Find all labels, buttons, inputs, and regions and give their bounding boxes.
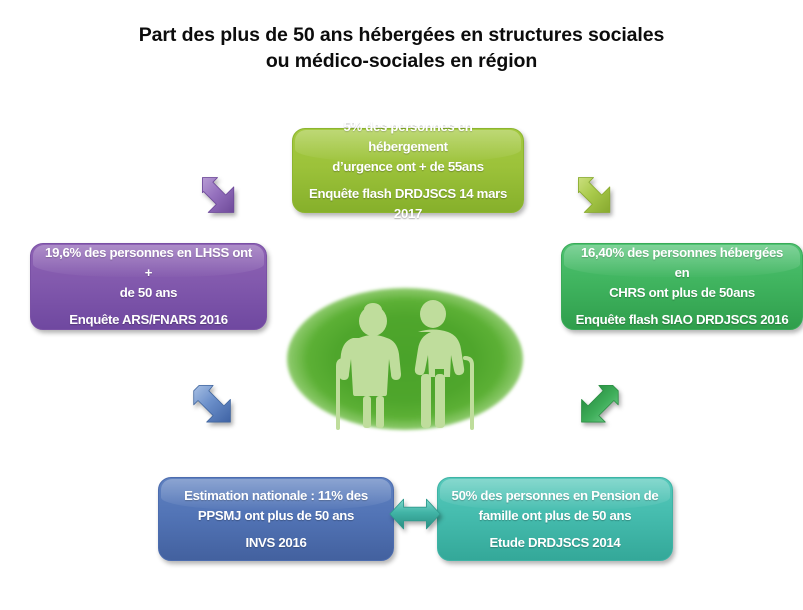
title-line-1: Part des plus de 50 ans hébergées en str… [100,22,703,48]
stat-text-line-2: de 50 ans [41,283,256,303]
stat-box-chrs[interactable]: 16,40% des personnes hébergées en CHRS o… [561,243,803,330]
stat-text-line-1: 16,40% des personnes hébergées en [572,243,792,283]
bent-double-arrow-yellowgreen-icon [568,166,626,224]
stat-text-line-1: 19,6% des personnes en LHSS ont + [41,243,256,283]
stat-source: Etude DRDJSCS 2014 [448,533,662,553]
horizontal-double-arrow-teal-icon [386,490,444,538]
stat-box-hebergement-urgence[interactable]: 5% des personnes en hébergement d’urgenc… [292,128,524,213]
stat-source: INVS 2016 [169,533,383,553]
stat-box-ppsmj[interactable]: Estimation nationale : 11% des PPSMJ ont… [158,477,394,561]
stat-text-line-2: famille ont plus de 50 ans [448,506,662,526]
stat-box-lhss[interactable]: 19,6% des personnes en LHSS ont + de 50 … [30,243,267,330]
page-title: Part des plus de 50 ans hébergées en str… [100,22,703,74]
bent-double-arrow-green-icon [572,378,630,436]
stat-text-line-1: 5% des personnes en hébergement [303,117,513,157]
center-graphic [287,288,523,430]
stat-text-line-2: PPSMJ ont plus de 50 ans [169,506,383,526]
stat-text-line-1: Estimation nationale : 11% des [169,486,383,506]
title-line-2: ou médico-sociales en région [100,48,703,74]
infographic-canvas: Part des plus de 50 ans hébergées en str… [0,0,803,610]
stat-source: Enquête flash DRDJSCS 14 mars 2017 [303,184,513,224]
bent-double-arrow-purple-icon [192,166,250,224]
stat-source: Enquête ARS/FNARS 2016 [41,310,256,330]
stat-text-line-1: 50% des personnes en Pension de [448,486,662,506]
elderly-couple-icon [329,298,481,430]
stat-source: Enquête flash SIAO DRDJSCS 2016 [572,310,792,330]
stat-text-line-2: d’urgence ont + de 55ans [303,157,513,177]
stat-box-pension-de-famille[interactable]: 50% des personnes en Pension de famille … [437,477,673,561]
stat-text-line-2: CHRS ont plus de 50ans [572,283,792,303]
bent-double-arrow-blue-icon [186,378,244,436]
